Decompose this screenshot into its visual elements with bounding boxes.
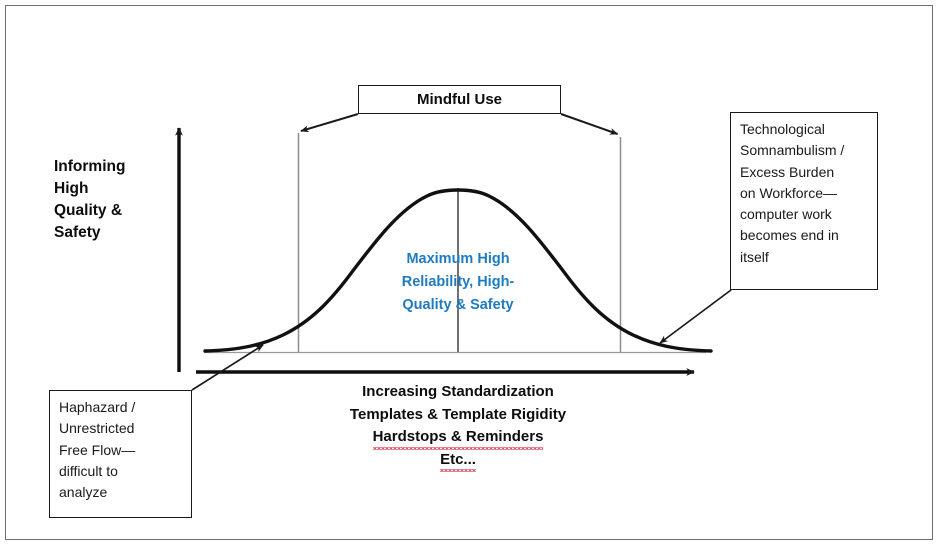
spellcheck-word-etc: Etc...	[440, 449, 476, 472]
x-axis-label-line-2: Templates & Template Rigidity	[258, 404, 658, 427]
x-axis-label-line-1: Increasing Standardization	[258, 381, 658, 404]
mindful-use-box: Mindful Use	[358, 85, 561, 114]
x-axis-label-line-3: Hardstops & Reminders	[258, 426, 658, 449]
right-callout-label: Technological Somnambulism / Excess Burd…	[740, 121, 844, 265]
spellcheck-word-hardstops: Hardstops & Reminders	[373, 426, 544, 449]
left-callout-box: Haphazard / Unrestricted Free Flow— diff…	[49, 390, 192, 518]
x-axis-label: Increasing Standardization Templates & T…	[258, 381, 658, 471]
maximum-quality-label: Maximum High Reliability, High-Quality &…	[383, 248, 533, 317]
y-axis-label: Informing High Quality & Safety	[54, 156, 174, 244]
right-callout-box: Technological Somnambulism / Excess Burd…	[730, 112, 878, 290]
diagram-canvas: Informing High Quality & Safety Increasi…	[0, 0, 942, 554]
x-axis-label-line-4: Etc...	[258, 449, 658, 472]
left-callout-label: Haphazard / Unrestricted Free Flow— diff…	[59, 399, 135, 500]
mindful-use-label: Mindful Use	[417, 91, 502, 108]
